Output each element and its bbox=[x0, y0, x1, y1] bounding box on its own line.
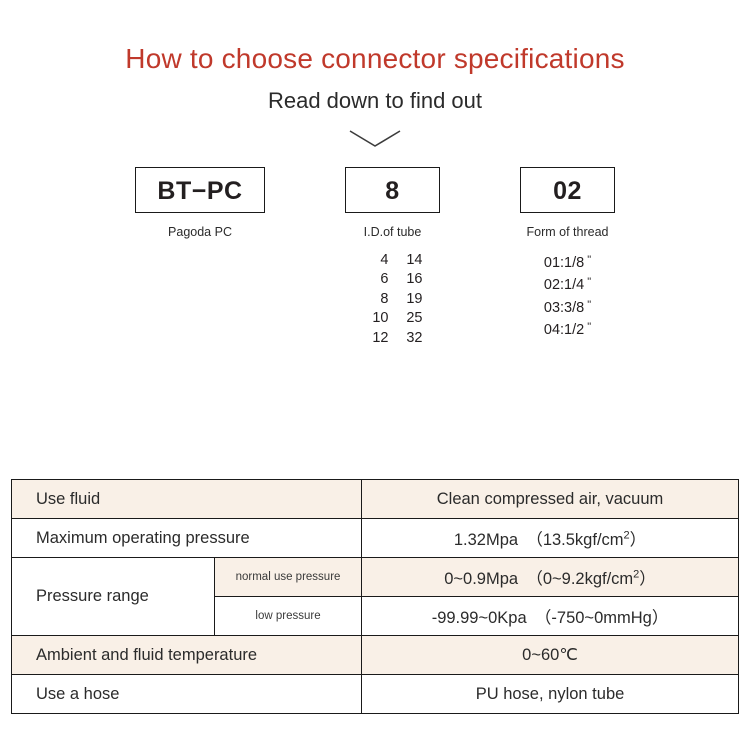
specification-table: Use fluid Clean compressed air, vacuum M… bbox=[11, 479, 739, 714]
page-subtitle: Read down to find out bbox=[0, 89, 750, 113]
sub-label-low-pressure: low pressure bbox=[215, 597, 362, 636]
row-value-low-pressure: -99.99~0Kpa （-750~0mmHg） bbox=[362, 597, 739, 636]
table-row: Pressure range normal use pressure 0~0.9… bbox=[12, 558, 739, 597]
list-item: 414 bbox=[363, 251, 423, 271]
row-value-normal-use-pressure: 0~0.9Mpa （0~9.2kgf/cm2） bbox=[362, 558, 739, 597]
row-label-max-pressure: Maximum operating pressure bbox=[12, 519, 362, 558]
list-item: 03:3/8" bbox=[544, 296, 591, 319]
table-row: Use fluid Clean compressed air, vacuum bbox=[12, 480, 739, 519]
list-item: 1232 bbox=[363, 329, 423, 349]
list-item: 1025 bbox=[363, 309, 423, 329]
code-caption-thread: Form of thread bbox=[520, 225, 615, 239]
page-header: How to choose connector specifications R… bbox=[0, 0, 750, 113]
code-breakdown: BT−PC Pagoda PC 8 I.D.of tube 414 616 81… bbox=[0, 167, 750, 397]
chevron-down-icon bbox=[0, 127, 750, 161]
table-row: Maximum operating pressure 1.32Mpa （13.5… bbox=[12, 519, 739, 558]
row-label-hose: Use a hose bbox=[12, 675, 362, 714]
row-value-max-pressure: 1.32Mpa （13.5kgf/cm2） bbox=[362, 519, 739, 558]
option-list-thread: 01:1/8" 02:1/4" 03:3/8" 04:1/2" bbox=[520, 251, 615, 341]
list-item: 02:1/4" bbox=[544, 273, 591, 296]
code-caption-series: Pagoda PC bbox=[135, 225, 265, 239]
list-item: 616 bbox=[363, 270, 423, 290]
list-item: 04:1/2" bbox=[544, 318, 591, 341]
code-column-series: BT−PC Pagoda PC bbox=[135, 167, 265, 239]
sub-label-normal-use-pressure: normal use pressure bbox=[215, 558, 362, 597]
code-box-series: BT−PC bbox=[135, 167, 265, 213]
page-title: How to choose connector specifications bbox=[0, 44, 750, 75]
code-caption-tube-id: I.D.of tube bbox=[345, 225, 440, 239]
row-label-pressure-range: Pressure range bbox=[12, 558, 215, 636]
row-value-use-fluid: Clean compressed air, vacuum bbox=[362, 480, 739, 519]
table-row: Ambient and fluid temperature 0~60℃ bbox=[12, 636, 739, 675]
code-box-thread: 02 bbox=[520, 167, 615, 213]
code-column-tube-id: 8 I.D.of tube 414 616 819 1025 1232 bbox=[345, 167, 440, 349]
list-item: 819 bbox=[363, 290, 423, 310]
table-row: Use a hose PU hose, nylon tube bbox=[12, 675, 739, 714]
row-value-hose: PU hose, nylon tube bbox=[362, 675, 739, 714]
row-label-temperature: Ambient and fluid temperature bbox=[12, 636, 362, 675]
row-value-temperature: 0~60℃ bbox=[362, 636, 739, 675]
option-list-tube-id: 414 616 819 1025 1232 bbox=[345, 251, 440, 349]
code-box-tube-id: 8 bbox=[345, 167, 440, 213]
row-label-use-fluid: Use fluid bbox=[12, 480, 362, 519]
list-item: 01:1/8" bbox=[544, 251, 591, 274]
code-column-thread: 02 Form of thread 01:1/8" 02:1/4" 03:3/8… bbox=[520, 167, 615, 341]
